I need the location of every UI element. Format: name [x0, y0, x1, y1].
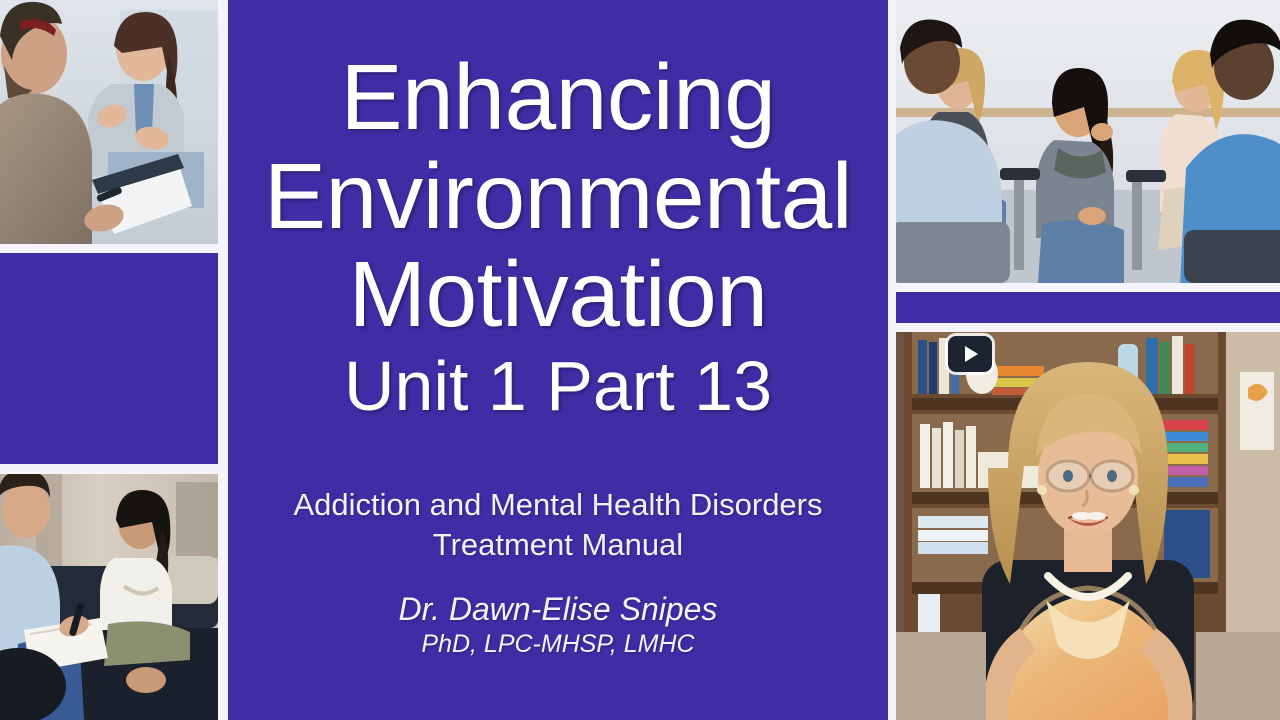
page-title: Enhancing Environmental Motivation — [228, 0, 888, 344]
presenter-name: Dr. Dawn-Elise Snipes — [228, 565, 888, 628]
presenter-video-thumbnail[interactable] — [896, 332, 1280, 720]
couch-session-photo — [0, 474, 218, 720]
left-accent-block — [0, 253, 218, 464]
presenter-video-artwork — [896, 332, 1280, 720]
couch-session-artwork — [0, 474, 218, 720]
title-panel: Enhancing Environmental Motivation Unit … — [228, 0, 888, 720]
presenter-credentials: PhD, LPC-MHSP, LMHC — [228, 628, 888, 659]
group-therapy-photo — [896, 0, 1280, 283]
play-triangle-icon — [965, 346, 978, 362]
manual-subtitle: Addiction and Mental Health Disorders Tr… — [228, 425, 888, 566]
play-icon[interactable] — [948, 336, 992, 372]
unit-part-label: Unit 1 Part 13 — [228, 344, 888, 425]
presentation-slide: Enhancing Environmental Motivation Unit … — [0, 0, 1280, 720]
counseling-session-artwork — [0, 0, 218, 244]
right-accent-block — [896, 292, 1280, 323]
group-therapy-artwork — [896, 0, 1280, 283]
counseling-session-photo — [0, 0, 218, 244]
